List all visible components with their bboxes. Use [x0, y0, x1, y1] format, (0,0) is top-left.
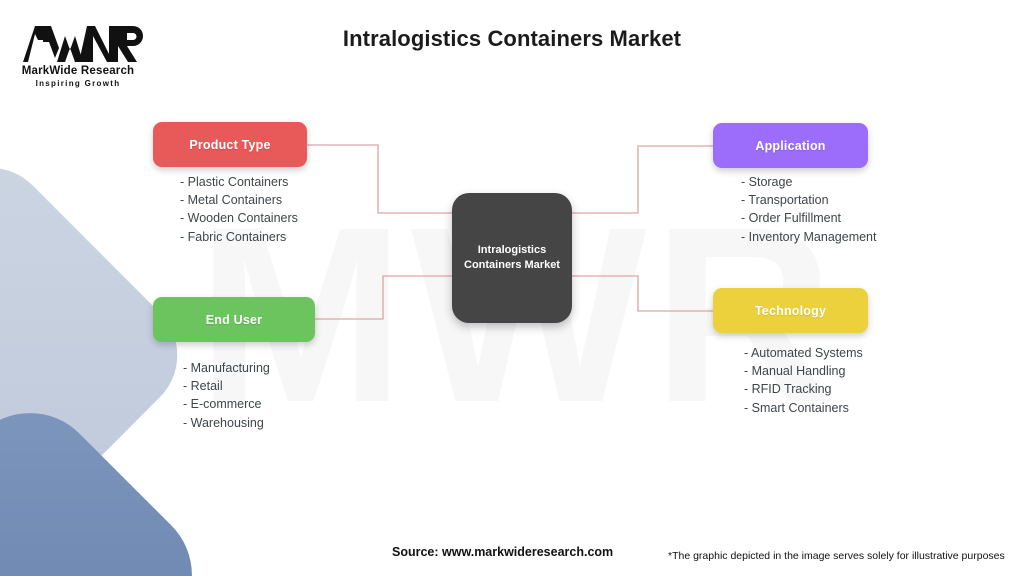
branch-label-product-type: Product Type [189, 138, 270, 152]
branch-node-application[interactable]: Application [713, 123, 868, 168]
branch-items-end-user: - Manufacturing - Retail - E-commerce - … [183, 359, 270, 432]
list-item: - E-commerce [183, 395, 270, 413]
branch-node-technology[interactable]: Technology [713, 288, 868, 333]
connector-end-user [315, 276, 452, 319]
branch-node-product-type[interactable]: Product Type [153, 122, 307, 167]
list-item: - Transportation [741, 191, 877, 209]
connector-application [572, 146, 713, 213]
list-item: - Metal Containers [180, 191, 298, 209]
slide-canvas: MWR MarkWide Research Inspiring Growth I… [0, 0, 1024, 576]
list-item: - Manual Handling [744, 362, 863, 380]
connector-technology [572, 276, 713, 311]
connector-product-type [307, 145, 452, 213]
list-item: - Fabric Containers [180, 228, 298, 246]
branch-label-end-user: End User [206, 313, 262, 327]
list-item: - Manufacturing [183, 359, 270, 377]
disclaimer-text: *The graphic depicted in the image serve… [668, 550, 1005, 562]
branch-label-application: Application [755, 139, 825, 153]
center-node-intralogistics-containers-market[interactable]: Intralogistics Containers Market [452, 193, 572, 323]
branch-label-technology: Technology [755, 304, 826, 318]
list-item: - Warehousing [183, 414, 270, 432]
center-node-line-2: Containers Market [464, 259, 560, 271]
list-item: - Smart Containers [744, 399, 863, 417]
list-item: - Order Fulfillment [741, 209, 877, 227]
center-node-label: Intralogistics Containers Market [464, 243, 560, 273]
list-item: - Plastic Containers [180, 173, 298, 191]
list-item: - Automated Systems [744, 344, 863, 362]
list-item: - Storage [741, 173, 877, 191]
branch-node-end-user[interactable]: End User [153, 297, 315, 342]
list-item: - Retail [183, 377, 270, 395]
branch-items-technology: - Automated Systems - Manual Handling - … [744, 344, 863, 417]
list-item: - Wooden Containers [180, 209, 298, 227]
list-item: - RFID Tracking [744, 380, 863, 398]
branch-items-product-type: - Plastic Containers - Metal Containers … [180, 173, 298, 246]
branch-items-application: - Storage - Transportation - Order Fulfi… [741, 173, 877, 246]
list-item: - Inventory Management [741, 228, 877, 246]
source-text: Source: www.markwideresearch.com [392, 545, 613, 559]
center-node-line-1: Intralogistics [478, 244, 546, 256]
